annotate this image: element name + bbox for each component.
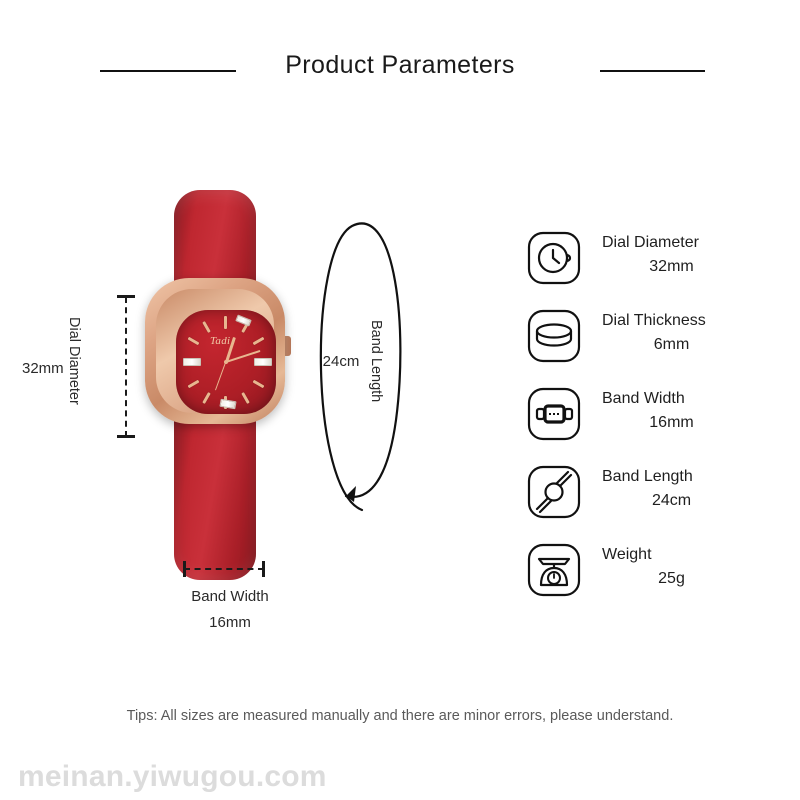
tips-note: Tips: All sizes are measured manually an… [0,708,800,724]
watch-brand-logo: Tadi [210,335,230,347]
spec-value: 6mm [602,333,777,357]
hour-marker-2 [253,337,265,346]
spec-list: Dial Diameter 32mm Dial Thickness 6mm [520,225,780,615]
spec-value: 32mm [602,255,777,279]
watch-dial-icon [525,229,583,287]
product-photo-panel: Dial Diameter 32mm Tadi [0,150,430,650]
dimension-dial-diameter: Dial Diameter 32mm [20,285,140,455]
spec-row-dial-diameter: Dial Diameter 32mm [520,225,780,303]
spec-text-band-width: Band Width 16mm [602,387,777,435]
dimension-line-vertical [125,297,127,437]
spec-value: 16mm [602,411,777,435]
dimension-cap-right [262,561,265,577]
spec-text-band-length: Band Length 24cm [602,465,777,513]
dimension-band-width-label: Band Width [150,588,310,605]
dimension-cap-bottom [117,435,135,438]
band-length-icon [525,463,583,521]
spec-label: Band Width [602,387,777,411]
spec-label: Dial Thickness [602,309,777,333]
crystal-marker-right [254,358,272,366]
hour-marker-7 [202,392,211,404]
spec-row-band-length: Band Length 24cm [520,459,780,537]
spec-label: Dial Diameter [602,231,777,255]
dimension-band-length-value: 24cm [312,353,370,370]
spec-text-weight: Weight 25g [602,543,777,591]
spec-text-dial-thickness: Dial Thickness 6mm [602,309,777,357]
dimension-dial-diameter-value: 32mm [22,360,88,377]
watch-dial: Tadi [176,310,276,414]
band-width-icon [525,385,583,443]
watch-bezel: Tadi [156,289,274,413]
spec-row-dial-thickness: Dial Thickness 6mm [520,303,780,381]
spec-text-dial-diameter: Dial Diameter 32mm [602,231,777,279]
dimension-band-width: Band Width 16mm [150,550,310,640]
hour-marker-12 [224,316,227,329]
title-rule-right [600,70,705,72]
crystal-marker-bottom [219,399,236,410]
kitchen-scale-icon [525,541,583,599]
hour-marker-5 [241,392,250,404]
disc-thickness-icon [525,307,583,365]
spec-row-weight: Weight 25g [520,537,780,615]
page-title: Product Parameters [0,48,800,82]
hour-marker-11 [202,321,211,333]
spec-row-band-width: Band Width 16mm [520,381,780,459]
hour-marker-4 [253,380,265,389]
site-watermark: meinan.yiwugou.com [18,760,327,794]
watch-case: Tadi [145,278,285,424]
spec-label: Weight [602,543,777,567]
dimension-band-length: Band Length 24cm [300,210,420,520]
hands-pivot [224,360,228,364]
hour-marker-10 [188,337,200,346]
spec-label: Band Length [602,465,777,489]
watch-product-image: Tadi [140,190,290,580]
page-header: Product Parameters [0,48,800,96]
dimension-band-width-value: 16mm [150,614,310,631]
spec-value: 24cm [602,489,777,513]
hour-marker-8 [188,380,200,389]
dimension-line-horizontal [184,568,264,570]
spec-value: 25g [602,567,777,591]
second-hand [215,362,226,391]
crystal-marker-left [183,358,201,366]
dimension-band-length-label: Band Length [368,320,384,402]
